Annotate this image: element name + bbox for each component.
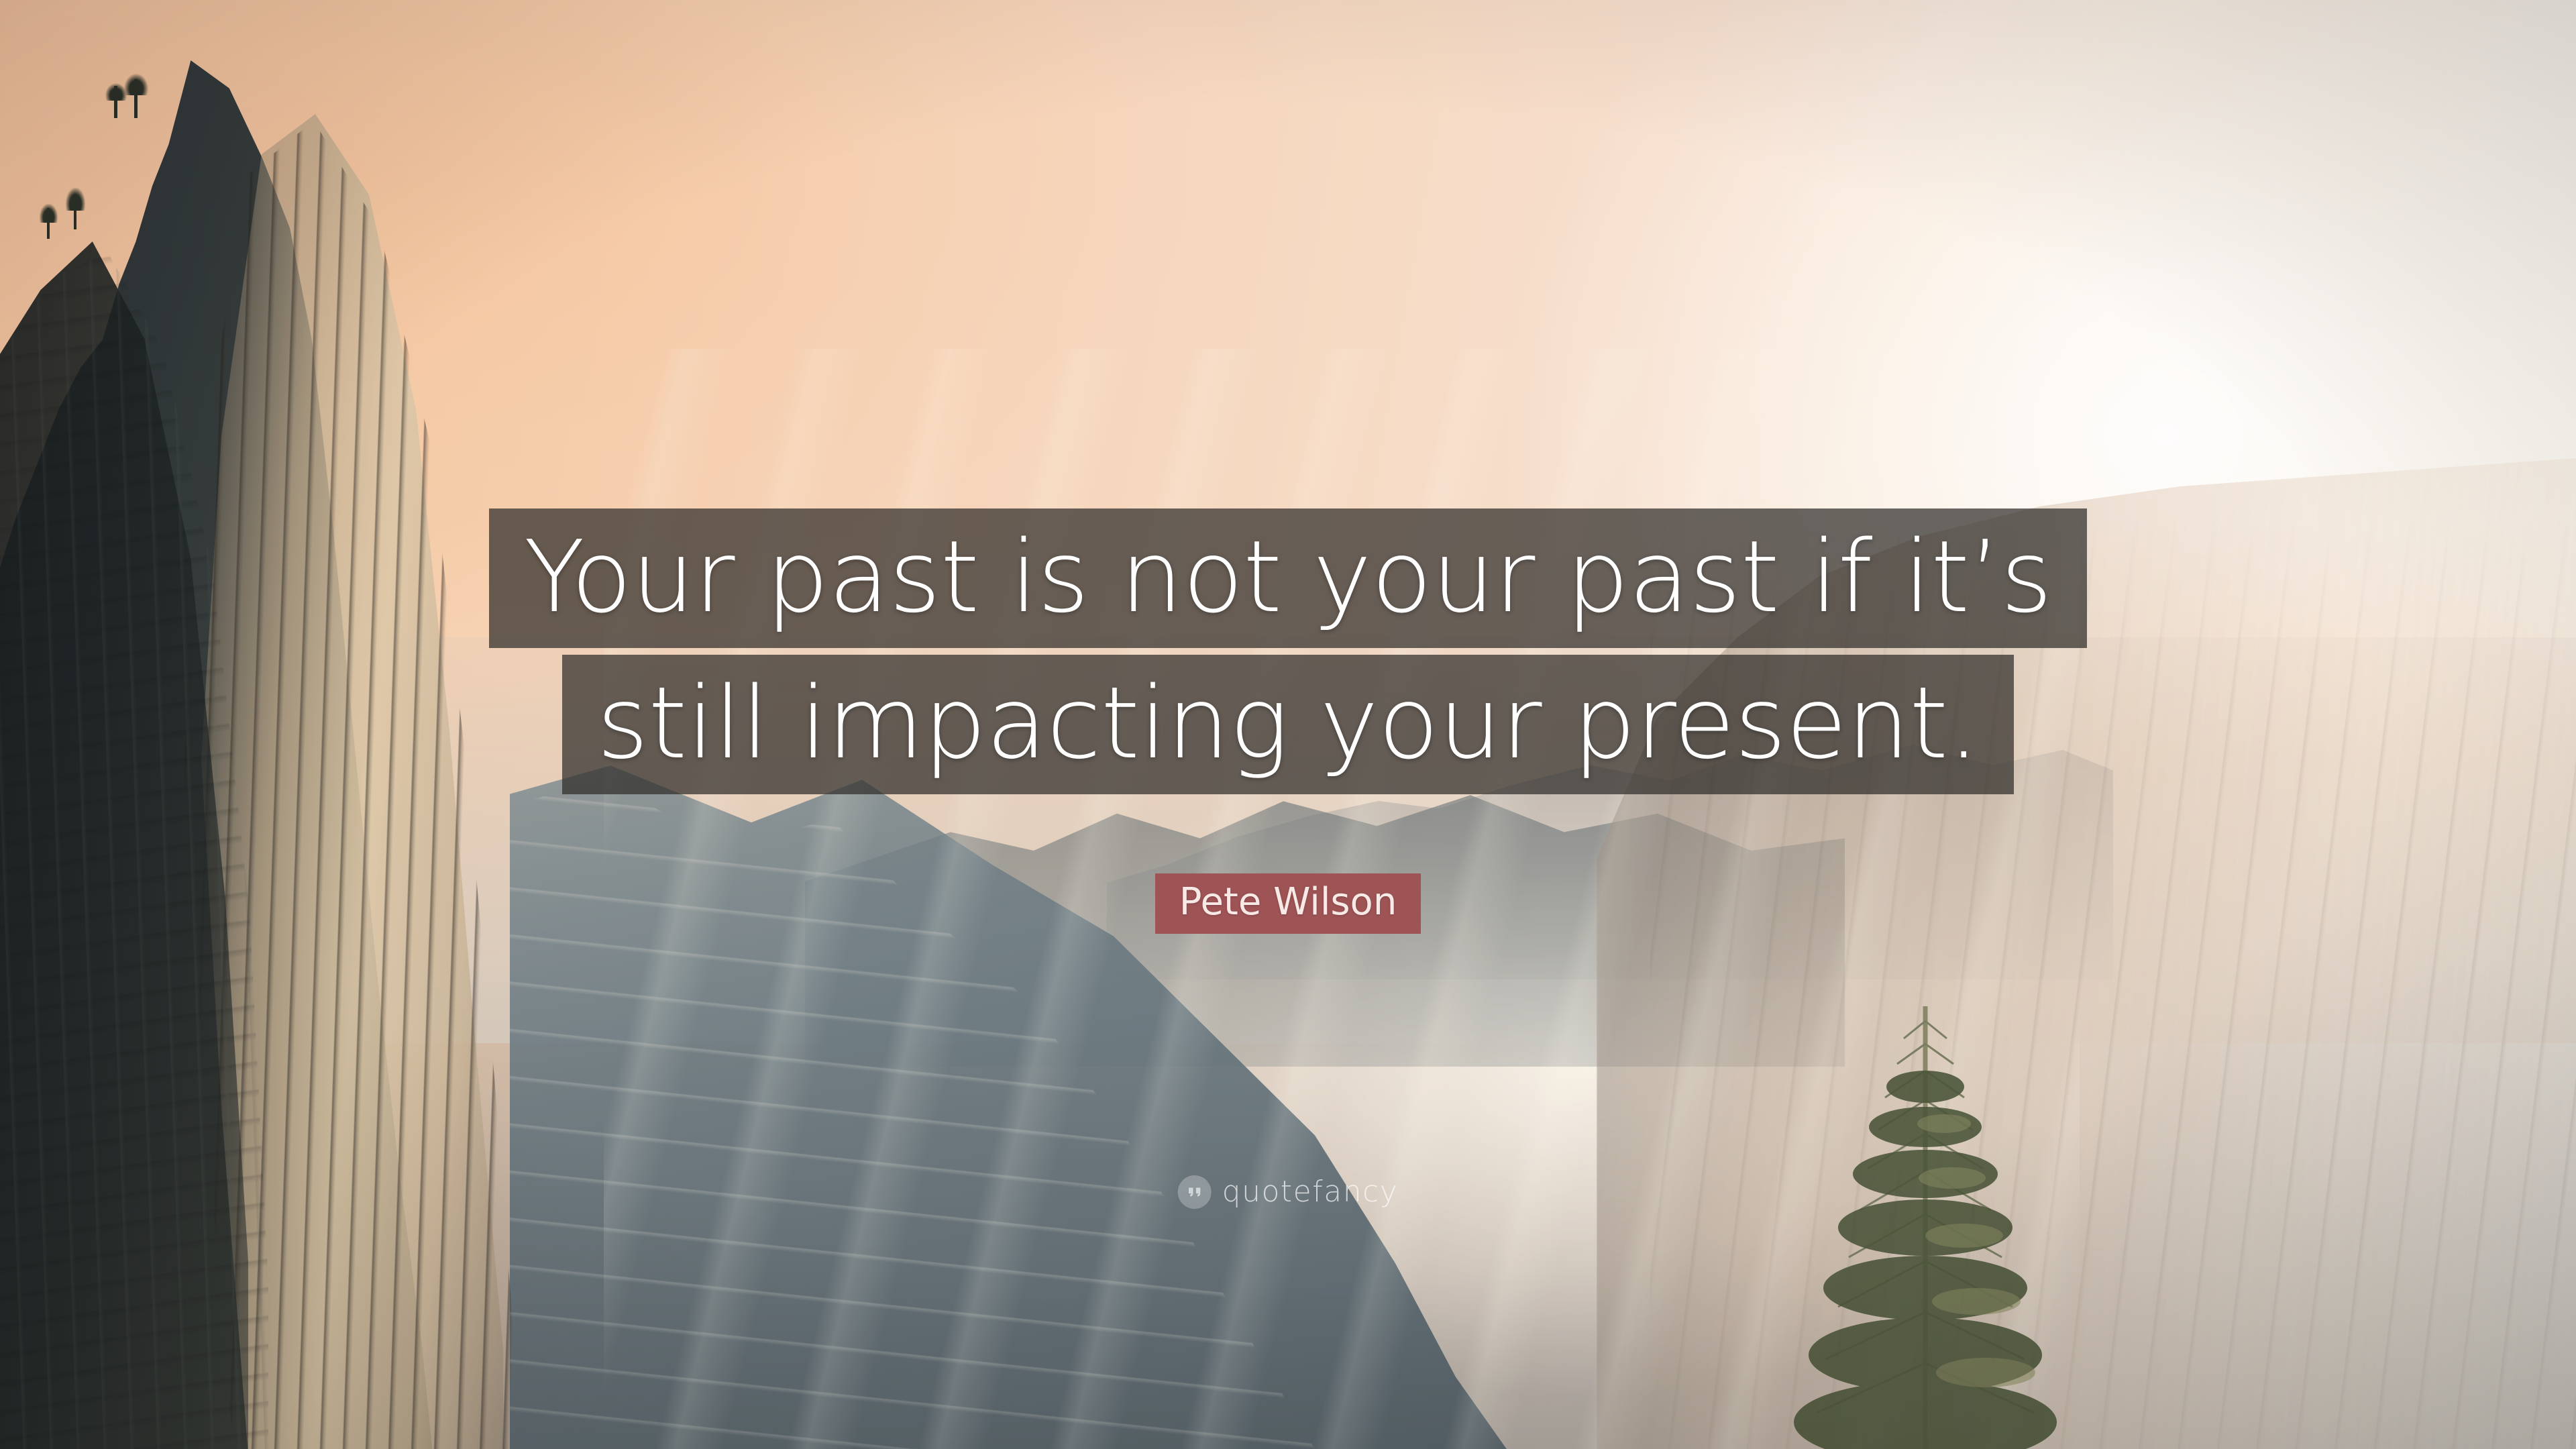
double-quote-icon [1178, 1175, 1212, 1209]
quote-block: Your past is not your past if it’s still… [0, 508, 2576, 934]
quotefancy-wordmark: quotefancy [1222, 1177, 1399, 1207]
text-overlay: Your past is not your past if it’s still… [0, 0, 2576, 1449]
quote-line-1: Your past is not your past if it’s [489, 508, 2087, 648]
quote-line-2: still impacting your present. [562, 655, 2015, 794]
author-badge: Pete Wilson [1155, 873, 1421, 934]
wallpaper-canvas: Your past is not your past if it’s still… [0, 0, 2576, 1449]
quotefancy-watermark[interactable]: quotefancy [1178, 1175, 1399, 1209]
